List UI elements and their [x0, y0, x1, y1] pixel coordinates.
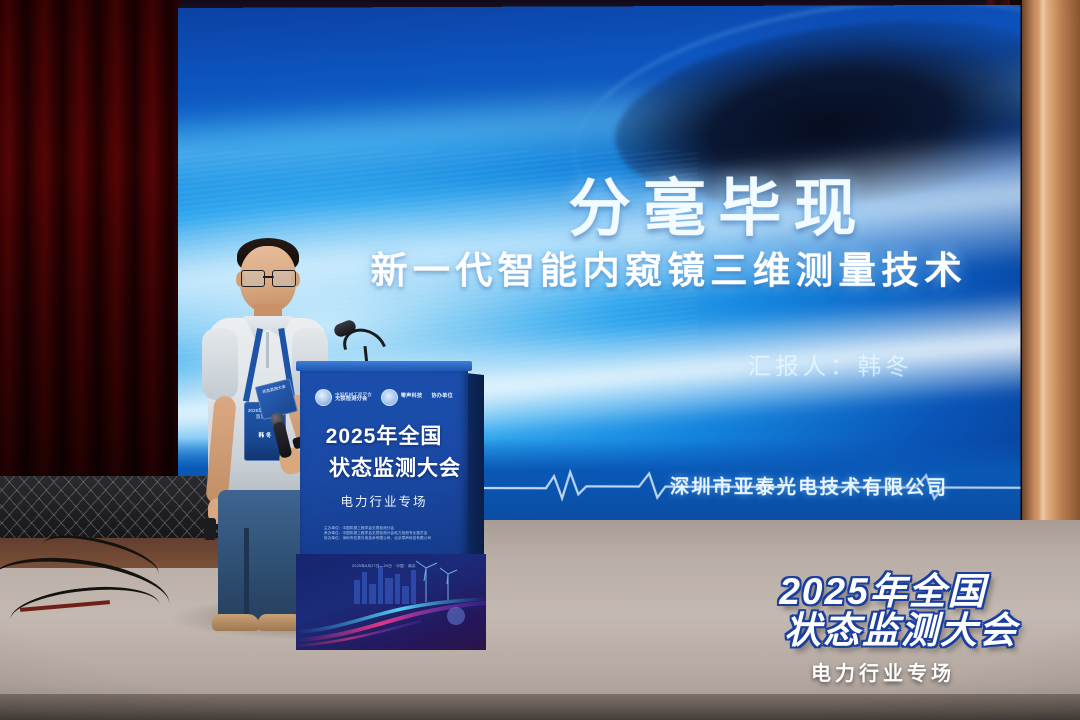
- lens-left: [241, 270, 265, 287]
- lens-right: [272, 270, 296, 287]
- jeans-inseam: [244, 528, 249, 622]
- stage-photo: 分毫毕现 新一代智能内窥镜三维测量技术 汇报人：韩冬 深圳市亚泰光电技术有限公司…: [0, 0, 1080, 720]
- stage-front-edge: [0, 694, 1080, 720]
- overlay-watermark: 2025年全国 状态监测大会 电力行业专场: [748, 572, 1018, 686]
- sponsor-line-2: 零声科技: [401, 394, 423, 399]
- slide-company-name: 深圳市亚泰光电技术有限公司: [575, 471, 1020, 500]
- presentation-clicker: [204, 518, 216, 540]
- slide-presenter-line: 汇报人：韩冬: [409, 346, 1021, 382]
- podium-title-line-3: 电力行业专场: [300, 491, 468, 510]
- eyeglasses-icon: [241, 270, 296, 285]
- podium-event-title: 2025年全国 状态监测大会 电力行业专场: [300, 420, 468, 510]
- podium-title-line-1: 2025年全国: [300, 420, 468, 450]
- sponsor-logo: 协办单位: [431, 394, 453, 399]
- ultrasound-tech-icon: [381, 389, 398, 406]
- sponsor-line-2: 无损检测分会: [335, 397, 372, 402]
- ndt-society-seal-icon: [315, 389, 332, 406]
- podium-organizer-text: 主办单位：中国机械工程学会无损检测分会 承办单位：中国机械工程学会无损检测分会电…: [324, 526, 448, 542]
- watermark-line-3: 电力行业专场: [748, 657, 1018, 686]
- shirt-placket: [266, 332, 269, 368]
- speaker-podium: 中国机械工程学会 无损检测分会 零声科技 协办单位 2025: [300, 368, 484, 650]
- sponsor-logo: 零声科技: [381, 389, 423, 406]
- podium-sponsor-logos: 中国机械工程学会 无损检测分会 零声科技 协办单位: [300, 386, 468, 408]
- slide-subtitle: 新一代智能内窥镜三维测量技术: [248, 240, 1020, 295]
- slide-main-title: 分毫毕现: [298, 156, 1020, 248]
- side-wall-panel: [1022, 0, 1080, 565]
- podium-top-ledge: [296, 361, 472, 371]
- podium-date-line: 2025年8月27日—29日 · 中国 · 南京: [300, 564, 468, 569]
- sponsor-logo: 中国机械工程学会 无损检测分会: [315, 389, 372, 406]
- podium-title-line-2: 状态监测大会: [300, 452, 468, 482]
- podium-front-panel: 中国机械工程学会 无损检测分会 零声科技 协办单位 2025: [300, 368, 468, 640]
- speaker-shoe: [212, 614, 260, 631]
- shirt-sleeve-left: [202, 328, 238, 400]
- sponsor-line-2: 协办单位: [431, 394, 453, 399]
- watermark-line-1: 2025年全国: [748, 572, 1018, 611]
- organizer-line: 协办单位：深圳市亚泰光电技术有限公司、北京零声科技有限公司: [324, 536, 448, 541]
- watermark-line-2: 状态监测大会: [748, 611, 1018, 650]
